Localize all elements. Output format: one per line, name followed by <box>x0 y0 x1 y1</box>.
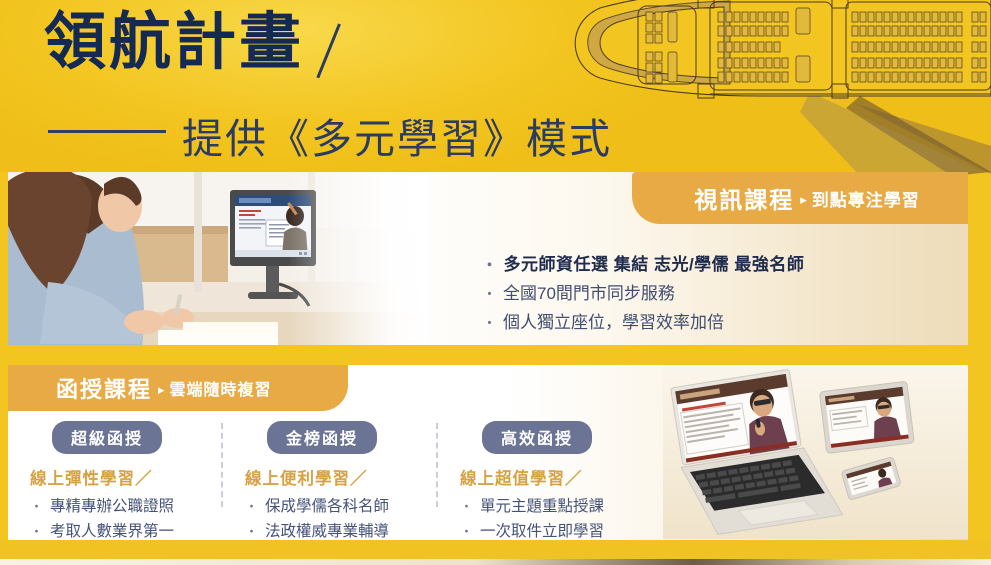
corr-badge-title: 函授課程 <box>56 372 152 404</box>
course-columns: 超級函授 線上彈性學習／ ・專精專辦公職證照 ・考取人數業界第一 金榜函授 線上… <box>8 421 708 540</box>
list-item: ・單元主題重點授課 <box>460 494 653 519</box>
course-pill-badge: 高效函授 <box>482 421 592 454</box>
bullet-dot-icon: ・ <box>482 257 498 274</box>
list-item: ・法政權威專業輔導 <box>245 519 438 540</box>
list-item: ・保成學儒各科名師 <box>245 494 438 519</box>
course-pill-badge: 金榜函授 <box>267 421 377 454</box>
bullet-dot-icon: ・ <box>30 524 43 539</box>
arrow-right-icon: ▸ <box>800 192 807 208</box>
bullet-text: 多元師資任選 集結 志光/學儒 最強名師 <box>504 255 805 274</box>
bullet-dot-icon: ・ <box>245 499 258 514</box>
diagonal-slash-icon <box>330 24 376 82</box>
course-column-efficient: 高效函授 線上超值學習／ ・單元主題重點授課 ・一次取件立即學習 <box>438 421 653 540</box>
video-course-badge: 視訊課程 ▸ 到點專注學習 <box>632 172 968 224</box>
bullet-dot-icon: ・ <box>30 499 43 514</box>
page-title: 領航計畫 <box>44 10 304 77</box>
list-item: ・專精專辦公職證照 <box>30 494 223 519</box>
bullet-text: 考取人數業界第一 <box>50 523 174 540</box>
arrow-right-icon: ▸ <box>158 382 165 398</box>
video-badge-subtitle: 到點專注學習 <box>812 186 920 211</box>
video-badge-title: 視訊課程 <box>694 181 794 215</box>
footer-strip <box>0 559 991 565</box>
course-heading: 線上彈性學習／ <box>30 465 223 489</box>
bullet-text: 單元主題重點授課 <box>480 498 604 515</box>
course-heading: 線上便利學習／ <box>245 465 438 489</box>
bullet-text: 個人獨立座位，學習效率加倍 <box>503 313 724 332</box>
list-item: ・多元師資任選 集結 志光/學儒 最強名師 <box>482 250 804 279</box>
photo-fade-overlay <box>288 172 428 345</box>
bullet-text: 法政權威專業輔導 <box>265 523 389 540</box>
list-item: ・一次取件立即學習 <box>460 519 653 540</box>
bullet-dot-icon: ・ <box>482 315 497 332</box>
video-course-bullets: ・多元師資任選 集結 志光/學儒 最強名師 ・全國70間門市同步服務 ・個人獨立… <box>442 250 804 338</box>
correspondence-course-badge: 函授課程 ▸ 雲端隨時複習 <box>8 365 348 411</box>
correspondence-course-card: 函授課程 ▸ 雲端隨時複習 超級函授 線上彈性學習／ ・專精專辦公職證照 ・考取… <box>8 365 968 540</box>
bullet-text: 保成學儒各科名師 <box>265 498 389 515</box>
bullet-text: 全國70間門市同步服務 <box>503 284 675 303</box>
list-item: ・考取人數業界第一 <box>30 519 223 540</box>
promo-banner: 領航計畫 提供《多元學習》模式 <box>0 0 991 565</box>
bullet-text: 專精專辦公職證照 <box>50 498 174 515</box>
course-column-gold: 金榜函授 線上便利學習／ ・保成學儒各科名師 ・法政權威專業輔導 <box>223 421 438 540</box>
video-course-card: 視訊課程 ▸ 到點專注學習 ・多元師資任選 集結 志光/學儒 最強名師 ・全國7… <box>8 172 968 345</box>
list-item: ・全國70間門市同步服務 <box>482 279 804 308</box>
corr-badge-subtitle: 雲端隨時複習 <box>170 376 272 400</box>
student-photo <box>8 172 428 345</box>
course-column-super: 超級函授 線上彈性學習／ ・專精專辦公職證照 ・考取人數業界第一 <box>8 421 223 540</box>
course-heading: 線上超值學習／ <box>460 465 653 489</box>
list-item: ・個人獨立座位，學習效率加倍 <box>482 308 804 337</box>
footer-bar <box>0 540 991 559</box>
page-subtitle: 提供《多元學習》模式 <box>182 105 612 165</box>
bullet-dot-icon: ・ <box>460 524 473 539</box>
airplane-icon <box>560 0 991 176</box>
bullet-text: 一次取件立即學習 <box>480 523 604 540</box>
bullet-dot-icon: ・ <box>482 286 497 303</box>
bullet-dot-icon: ・ <box>245 524 258 539</box>
horizontal-rule-icon <box>48 130 166 133</box>
bullet-dot-icon: ・ <box>460 499 473 514</box>
devices-photo <box>663 365 968 539</box>
course-pill-badge: 超級函授 <box>52 421 162 454</box>
